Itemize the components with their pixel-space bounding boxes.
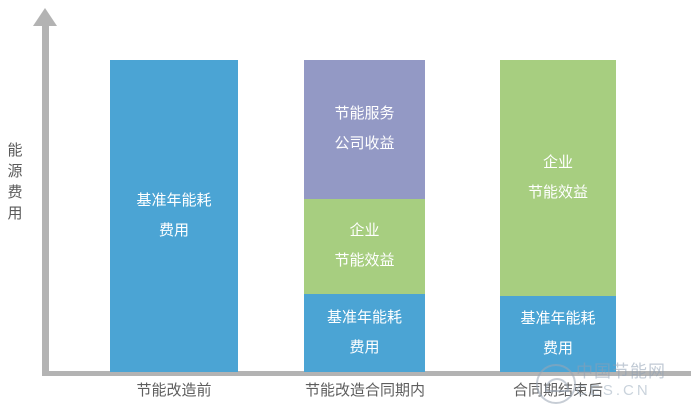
segment-label-line1: 基准年能耗 (136, 186, 211, 216)
segment-label-line1: 节能服务 (334, 99, 394, 129)
segment-label-line1: 企业 (349, 216, 379, 246)
segment-esco-revenue: 节能服务 公司收益 (304, 60, 425, 199)
chart-container: 能 源 费 用 基准年能耗 费用 节能服务 公司收益 企业 节能效益 基准年能耗… (0, 0, 691, 415)
bar-before-retrofit: 基准年能耗 费用 (110, 60, 238, 372)
segment-label-line1: 基准年能耗 (520, 304, 595, 334)
y-axis-title: 能 源 费 用 (2, 140, 28, 224)
segment-baseline-energy-cost: 基准年能耗 费用 (304, 294, 425, 372)
segment-label-line2: 费用 (349, 333, 379, 363)
x-axis-label-before-retrofit: 节能改造前 (96, 380, 252, 402)
y-axis-line (42, 22, 49, 374)
segment-enterprise-savings: 企业 节能效益 (500, 60, 616, 296)
segment-label-line1: 基准年能耗 (327, 303, 402, 333)
segment-label-line2: 公司收益 (334, 129, 394, 159)
bar-during-contract: 节能服务 公司收益 企业 节能效益 基准年能耗 费用 (304, 60, 425, 372)
segment-baseline-energy-cost: 基准年能耗 费用 (500, 296, 616, 372)
segment-label-line2: 节能效益 (528, 178, 588, 208)
x-axis-label-after-contract: 合同期结束后 (482, 380, 634, 402)
segment-label-line1: 企业 (543, 148, 573, 178)
segment-label-line2: 费用 (543, 334, 573, 364)
bar-after-contract: 企业 节能效益 基准年能耗 费用 (500, 60, 616, 372)
segment-label-line2: 节能效益 (334, 246, 394, 276)
segment-baseline-energy-cost: 基准年能耗 费用 (110, 60, 238, 372)
x-axis-label-during-contract: 节能改造合同期内 (282, 380, 448, 402)
segment-enterprise-savings: 企业 节能效益 (304, 199, 425, 294)
segment-label-line2: 费用 (159, 216, 189, 246)
